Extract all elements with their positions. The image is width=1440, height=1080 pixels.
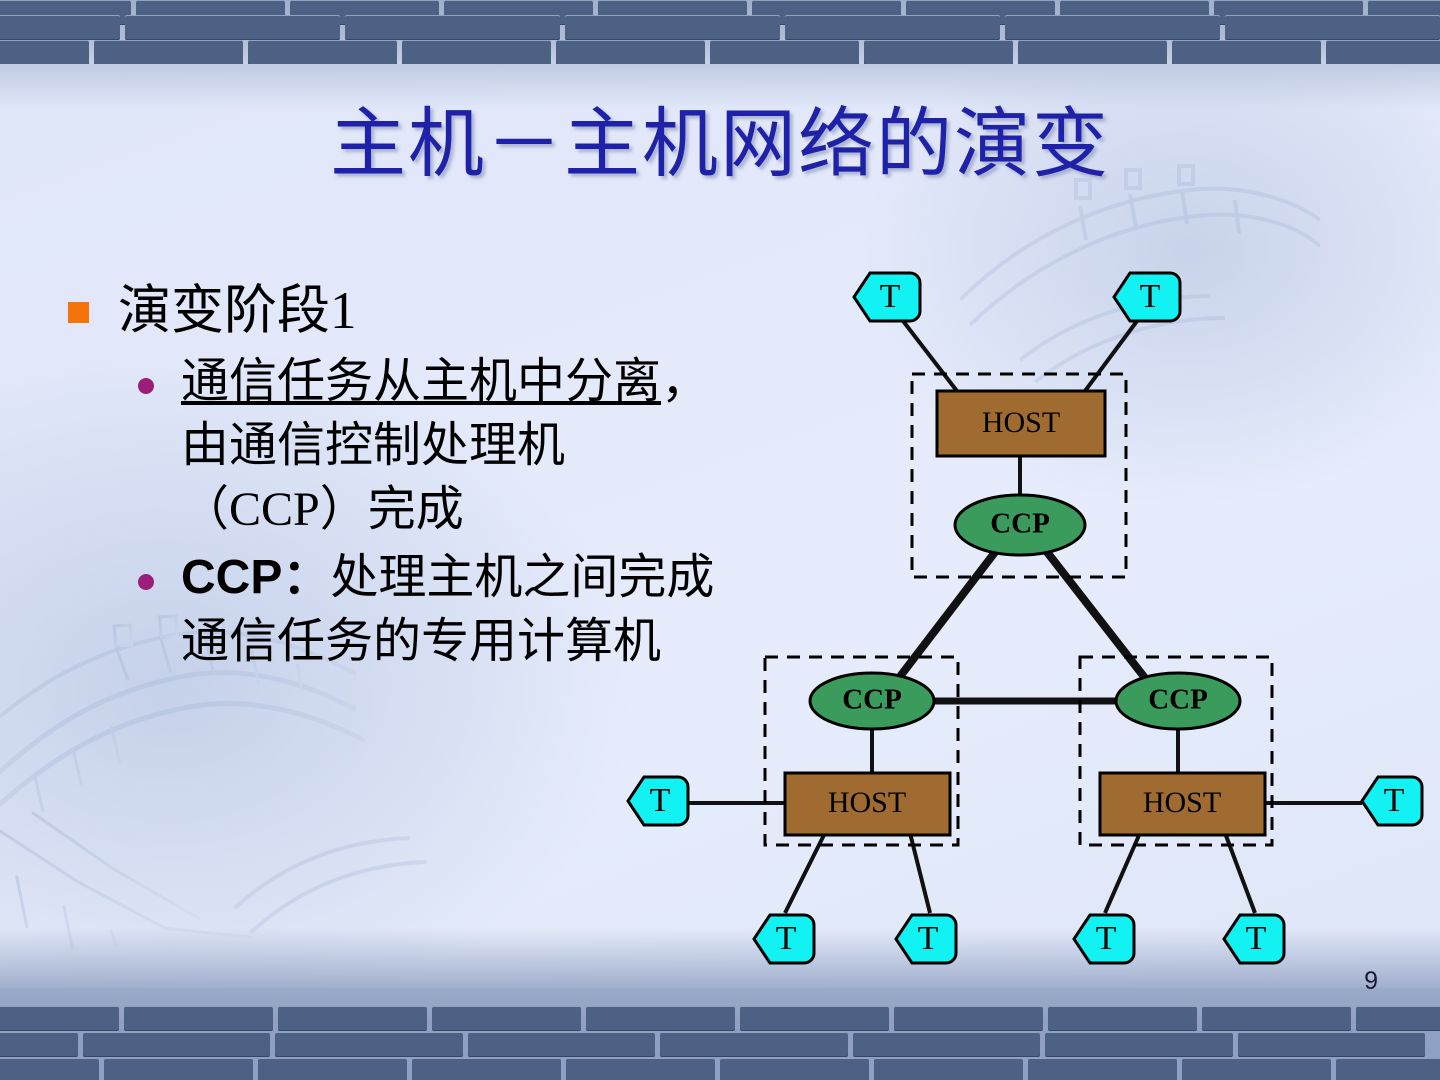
terminals: T T T T T T	[628, 273, 1422, 963]
terminal-label: T	[1096, 920, 1117, 957]
terminal-top-right[interactable]: T	[1114, 273, 1180, 321]
terminal-label: T	[880, 278, 901, 315]
terminal-label: T	[1140, 278, 1161, 315]
terminal-bottom-4[interactable]: T	[1224, 915, 1284, 963]
bottom-brick-border	[0, 988, 1440, 1080]
ccp-label: CCP	[1148, 684, 1208, 716]
terminal-top-left[interactable]: T	[854, 273, 920, 321]
link-topT2-tophost	[1082, 317, 1140, 395]
host-nodes: HOST HOST HOST	[785, 391, 1265, 835]
round-bullet-icon	[138, 378, 154, 394]
ccp-nodes: CCP CCP CCP	[810, 495, 1240, 729]
network-diagram: T T T T T T	[600, 255, 1440, 995]
host-node-left[interactable]: HOST	[785, 773, 950, 835]
host-label: HOST	[828, 786, 906, 819]
terminal-label: T	[776, 920, 797, 957]
host-label: HOST	[1143, 786, 1221, 819]
ccp-label: CCP	[842, 684, 902, 716]
terminal-bottom-1[interactable]: T	[754, 915, 814, 963]
round-bullet-icon	[138, 574, 154, 590]
link-topccp-rightccp	[1040, 543, 1152, 687]
ccp-node-top[interactable]: CCP	[955, 495, 1085, 555]
square-bullet-icon	[68, 302, 89, 323]
page-title: 主机－主机网络的演变	[0, 103, 1440, 187]
terminal-left-side[interactable]: T	[628, 777, 688, 825]
link-topT1-tophost	[900, 317, 960, 395]
ccp-node-left[interactable]: CCP	[810, 673, 934, 729]
host-label: HOST	[982, 406, 1060, 439]
slide-canvas: 主机－主机网络的演变 演变阶段1 通信任务从主机中分离，由通信控制处理机（CCP…	[0, 0, 1440, 1080]
bullet-level1-label: 演变阶段1	[118, 282, 357, 340]
terminal-label: T	[650, 782, 671, 819]
ccp-label: CCP	[990, 508, 1050, 540]
bullet-2-2-bold: CCP：	[181, 551, 330, 604]
terminal-label: T	[1246, 920, 1267, 957]
terminal-bottom-3[interactable]: T	[1074, 915, 1134, 963]
page-number: 9	[1364, 967, 1378, 996]
terminal-right-side[interactable]: T	[1362, 777, 1422, 825]
terminal-label: T	[918, 920, 939, 957]
host-node-right[interactable]: HOST	[1100, 773, 1265, 835]
bullet-2-1-underlined: 通信任务从主机中分离	[181, 355, 661, 408]
terminal-bottom-2[interactable]: T	[896, 915, 956, 963]
terminal-label: T	[1384, 782, 1405, 819]
top-brick-border	[0, 0, 1440, 64]
link-topccp-leftccp	[892, 543, 1002, 687]
ccp-node-right[interactable]: CCP	[1116, 673, 1240, 729]
host-node-top[interactable]: HOST	[937, 391, 1105, 456]
